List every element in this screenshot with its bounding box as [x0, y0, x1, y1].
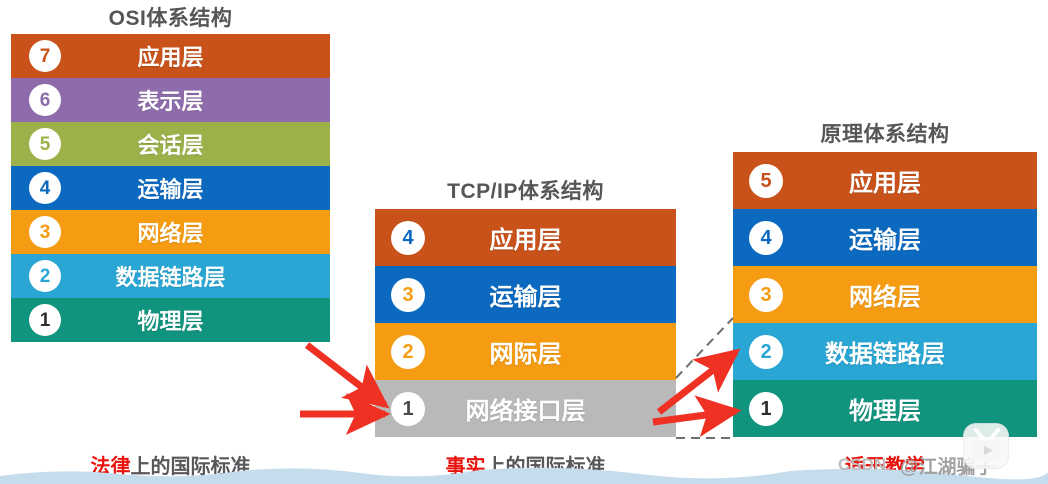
layer-number-badge: 3: [749, 278, 783, 312]
stack-tcpip-caption-rest: 上的国际标准: [486, 456, 606, 478]
layer-number-badge: 1: [29, 304, 61, 336]
watermark-csdn-text: CSDN: [838, 455, 886, 475]
layer-number-badge: 2: [391, 335, 425, 369]
layer-tcpip-3[interactable]: 3运输层: [375, 266, 676, 323]
stack-principle: 原理体系结构 5应用层4运输层3网络层2数据链路层1物理层: [733, 118, 1037, 439]
layer-number-badge: 5: [29, 128, 61, 160]
layer-number-badge: 4: [29, 172, 61, 204]
stack-osi-body: 7应用层6表示层5会话层4运输层3网络层2数据链路层1物理层: [11, 34, 330, 342]
diagram-canvas: OSI体系结构 7应用层6表示层5会话层4运输层3网络层2数据链路层1物理层 法…: [0, 0, 1048, 484]
layer-number-badge: 7: [29, 40, 61, 72]
layer-tcpip-4[interactable]: 4应用层: [375, 209, 676, 266]
stack-tcpip-caption-highlight: 事实: [446, 456, 486, 478]
stack-osi-caption-rest: 上的国际标准: [131, 456, 251, 478]
video-play-icon: [963, 423, 1009, 469]
stack-tcpip-body: 4应用层3运输层2网际层1网络接口层: [375, 209, 676, 437]
layer-number-badge: 4: [749, 221, 783, 255]
stack-tcpip-title: TCP/IP体系结构: [375, 175, 676, 205]
stack-principle-body: 5应用层4运输层3网络层2数据链路层1物理层: [733, 152, 1037, 437]
layer-osi-6[interactable]: 6表示层: [11, 78, 330, 122]
layer-number-badge: 2: [749, 335, 783, 369]
layer-osi-7[interactable]: 7应用层: [11, 34, 330, 78]
stack-principle-title: 原理体系结构: [733, 118, 1037, 148]
layer-tcpip-2[interactable]: 2网际层: [375, 323, 676, 380]
layer-principle-5[interactable]: 5应用层: [733, 152, 1037, 209]
stack-tcpip-caption: 事实上的国际标准: [375, 450, 676, 479]
layer-osi-2[interactable]: 2数据链路层: [11, 254, 330, 298]
layer-osi-1[interactable]: 1物理层: [11, 298, 330, 342]
layer-tcpip-1[interactable]: 1网络接口层: [375, 380, 676, 437]
layer-principle-4[interactable]: 4运输层: [733, 209, 1037, 266]
stack-osi-caption: 法律上的国际标准: [11, 450, 330, 479]
stack-osi: OSI体系结构 7应用层6表示层5会话层4运输层3网络层2数据链路层1物理层: [11, 0, 330, 444]
layer-osi-4[interactable]: 4运输层: [11, 166, 330, 210]
layer-number-badge: 1: [749, 392, 783, 426]
layer-number-badge: 6: [29, 84, 61, 116]
stack-osi-caption-highlight: 法律: [91, 456, 131, 478]
layer-number-badge: 1: [391, 392, 425, 426]
stack-tcpip: TCP/IP体系结构 4应用层3运输层2网际层1网络接口层: [375, 175, 676, 439]
layer-osi-5[interactable]: 5会话层: [11, 122, 330, 166]
layer-number-badge: 3: [29, 216, 61, 248]
layer-number-badge: 3: [391, 278, 425, 312]
layer-number-badge: 5: [749, 164, 783, 198]
video-play-glyph: [964, 424, 1010, 470]
layer-number-badge: 2: [29, 260, 61, 292]
layer-principle-3[interactable]: 3网络层: [733, 266, 1037, 323]
layer-number-badge: 4: [391, 221, 425, 255]
layer-osi-3[interactable]: 3网络层: [11, 210, 330, 254]
stack-osi-title: OSI体系结构: [11, 2, 330, 32]
dashed-connector-upper: [676, 318, 733, 378]
layer-principle-2[interactable]: 2数据链路层: [733, 323, 1037, 380]
